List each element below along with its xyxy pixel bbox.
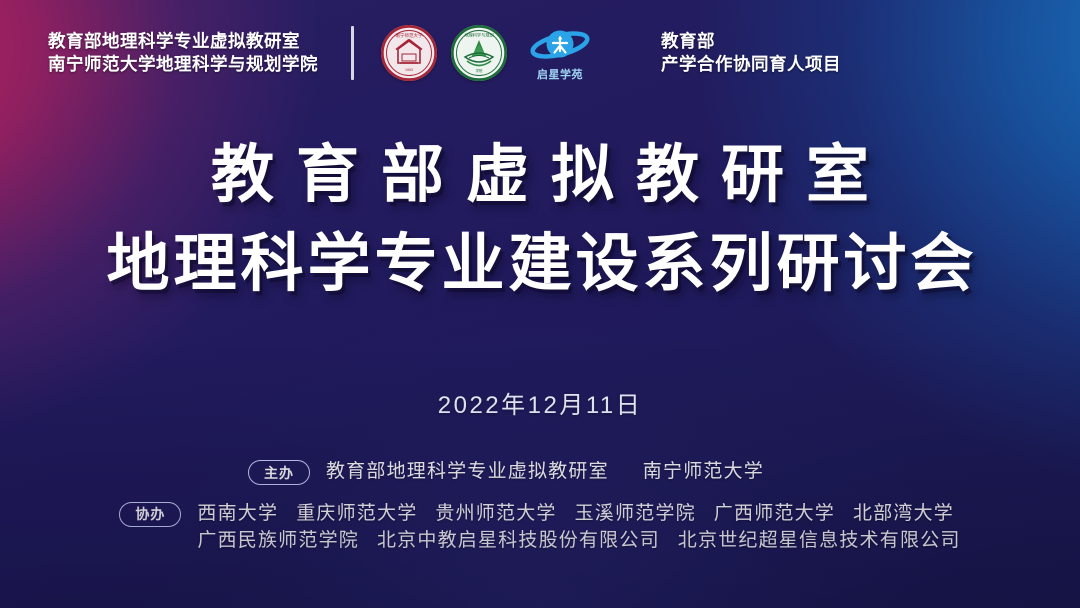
coorganizer-item: 西南大学 [197, 503, 278, 524]
host-line-1: 教育部地理科学专业虚拟教研室南宁师范大学 [326, 458, 798, 486]
coorganizer-item: 重庆师范大学 [296, 503, 417, 524]
coorganizer-item: 广西民族师范学院 [197, 530, 359, 551]
host-item: 教育部地理科学专业虚拟教研室 [326, 461, 609, 482]
host-item: 南宁师范大学 [643, 461, 764, 482]
qixing-academy-logo-icon: 启星学苑 [521, 24, 599, 82]
coorganizer-item: 贵州师范大学 [435, 503, 556, 524]
header-right-program: 教育部 产学合作协同育人项目 [661, 30, 841, 76]
title-line-1: 教育部虚拟教研室 [0, 138, 1080, 214]
page-title: 教育部虚拟教研室 地理科学专业建设系列研讨会 [0, 138, 1080, 304]
title-line-2: 地理科学专业建设系列研讨会 [0, 224, 1080, 305]
organizer-row-host: 主办 教育部地理科学专业虚拟教研室南宁师范大学 [0, 458, 1080, 486]
coorganizer-line-1: 西南大学重庆师范大学贵州师范大学玉溪师范学院广西师范大学北部湾大学 [197, 500, 960, 528]
coorganizer-item: 北京中教启星科技股份有限公司 [377, 530, 660, 551]
svg-text:学院: 学院 [476, 68, 483, 73]
poster-canvas: 教育部地理科学专业虚拟教研室 南宁师范大学地理科学与规划学院 南宁师范大学 19… [0, 0, 1080, 608]
svg-text:南宁师范大学: 南宁师范大学 [396, 32, 423, 39]
event-date: 2022年12月11日 [0, 385, 1080, 420]
header-right-line1: 教育部 [661, 30, 841, 53]
green-university-seal-icon: 地理科学与规划 学院 [451, 25, 507, 81]
coorganizer-item: 玉溪师范学院 [575, 503, 696, 524]
qixing-academy-label: 启星学苑 [537, 66, 583, 82]
coorganizer-line-2: 广西民族师范学院北京中教启星科技股份有限公司北京世纪超星信息技术有限公司 [197, 527, 960, 555]
coorganizer-item: 北京世纪超星信息技术有限公司 [678, 530, 961, 551]
header-left-affiliation: 教育部地理科学专业虚拟教研室 南宁师范大学地理科学与规划学院 [48, 30, 318, 76]
svg-text:1953: 1953 [405, 68, 413, 72]
header-right-line2: 产学合作协同育人项目 [661, 53, 841, 76]
organizer-section: 主办 教育部地理科学专业虚拟教研室南宁师范大学 协办 西南大学重庆师范大学贵州师… [0, 458, 1080, 555]
host-organization-list: 教育部地理科学专业虚拟教研室南宁师范大学 [326, 458, 832, 486]
poster-header: 教育部地理科学专业虚拟教研室 南宁师范大学地理科学与规划学院 南宁师范大学 19… [48, 20, 1040, 86]
header-left-line2: 南宁师范大学地理科学与规划学院 [48, 53, 318, 76]
status-badge-host: 主办 [248, 460, 310, 485]
header-divider [351, 26, 354, 80]
organizer-row-coorganizer: 协办 西南大学重庆师范大学贵州师范大学玉溪师范学院广西师范大学北部湾大学 广西民… [0, 500, 1080, 555]
status-badge-coorganizer: 协办 [119, 502, 181, 527]
header-left-line1: 教育部地理科学专业虚拟教研室 [48, 30, 318, 53]
coorganizer-item: 广西师范大学 [714, 503, 835, 524]
header-logo-group: 南宁师范大学 1953 地理科学与规划 学院 [381, 24, 599, 82]
nanning-normal-university-seal-icon: 南宁师范大学 1953 [381, 25, 437, 81]
coorganizer-organization-list: 西南大学重庆师范大学贵州师范大学玉溪师范学院广西师范大学北部湾大学 广西民族师范… [197, 500, 960, 555]
svg-text:地理科学与规划: 地理科学与规划 [464, 32, 493, 39]
coorganizer-item: 北部湾大学 [853, 503, 954, 524]
